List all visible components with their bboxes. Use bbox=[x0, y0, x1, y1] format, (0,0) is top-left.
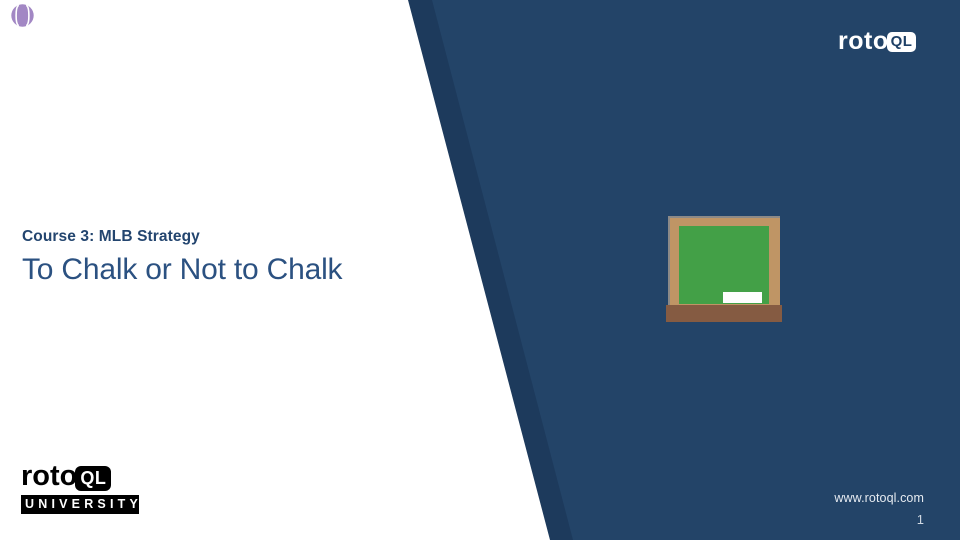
title-block: Course 3: MLB Strategy To Chalk or Not t… bbox=[22, 228, 422, 286]
chalkboard-illustration bbox=[666, 216, 784, 322]
rotoql-university-logo: roto QL UNIVERSITY bbox=[21, 463, 141, 514]
rotoql-university-logo-row: roto QL bbox=[21, 463, 141, 491]
rotoql-logo-word: roto bbox=[838, 29, 889, 54]
rotoql-university-subtitle: UNIVERSITY bbox=[21, 495, 139, 514]
course-eyebrow: Course 3: MLB Strategy bbox=[22, 228, 422, 246]
rotoql-logo-top-right: roto QL bbox=[838, 29, 916, 53]
footer-website-url: www.rotoql.com bbox=[834, 491, 924, 505]
chalkboard-eraser-icon bbox=[723, 292, 762, 303]
page-title: To Chalk or Not to Chalk bbox=[22, 253, 422, 286]
slide-canvas: roto QL Course 3: MLB Strategy To Chalk … bbox=[0, 0, 960, 540]
page-number: 1 bbox=[917, 512, 924, 527]
rotoql-university-badge: QL bbox=[75, 466, 111, 491]
rotoql-logo-badge: QL bbox=[887, 32, 917, 52]
chalkboard-ledge bbox=[666, 305, 782, 322]
baseball-icon bbox=[11, 4, 34, 27]
rotoql-university-word: roto bbox=[21, 462, 77, 491]
